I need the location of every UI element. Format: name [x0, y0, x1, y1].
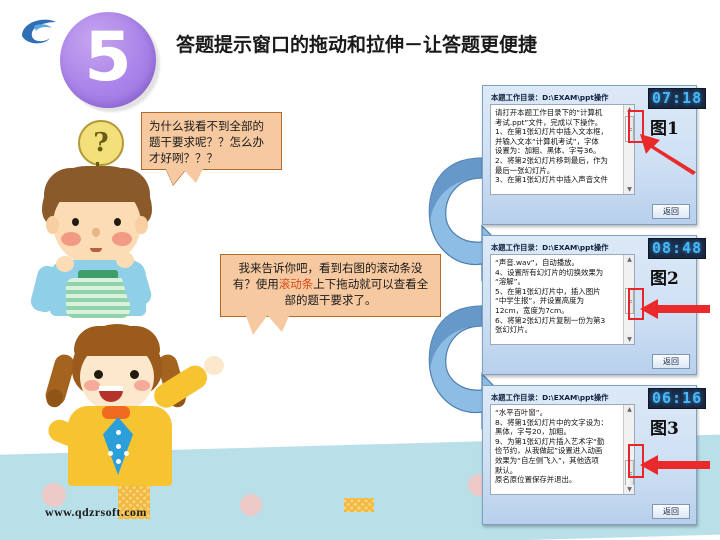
answer-bubble: 我来告诉你吧，看到右图的滚动条没有？使用滚动条上下拖动就可以查看全部的题干要求了…	[220, 254, 441, 317]
boy-cheek	[112, 232, 132, 246]
question-line: “溶解”。	[495, 277, 622, 287]
question-line: 2、将第2张幻灯片移到最后，作为	[495, 156, 622, 166]
girl-cheek	[134, 380, 150, 391]
explaining-girl-illustration	[44, 318, 230, 486]
girl-bangs	[74, 326, 160, 356]
question-line: “水平百叶窗”。	[495, 408, 622, 418]
girl-cheek	[84, 380, 100, 391]
scroll-down-arrow-icon[interactable]: ▼	[625, 185, 634, 194]
question-line: 张幻灯片。	[495, 325, 622, 335]
work-directory-label-1: 本题工作目录：D:\EXAM\ppt操作	[491, 93, 608, 103]
step-number-badge: 5	[60, 12, 156, 108]
figure-label-1: 图1	[650, 114, 679, 139]
figure-label-2: 图2	[650, 264, 679, 289]
question-text-area-1[interactable]: 请打开本题工作目录下的“计算机 考试.ppt”文件，完成以下操作。 1、在第1张…	[490, 104, 635, 195]
tie-dot	[116, 430, 121, 435]
question-mark-glyph: ?	[93, 128, 108, 158]
answer-bubble-tail	[246, 316, 267, 335]
girl-teeth	[99, 386, 123, 391]
question-line: 5、在第1张幻灯片中，插入图片	[495, 287, 622, 297]
girl-hand-raised	[204, 356, 224, 375]
decor-waffle	[344, 498, 374, 512]
tie-dot	[116, 459, 121, 464]
girl-eye	[94, 370, 103, 379]
work-directory-label-3: 本题工作目录：D:\EXAM\ppt操作	[491, 393, 608, 403]
tie-dot	[116, 444, 121, 449]
question-line: 黑体，字号20，加粗。	[495, 427, 622, 437]
tie-dot	[124, 451, 129, 456]
boy-hand-left	[56, 256, 74, 272]
decor-dot	[42, 483, 66, 507]
scroll-down-arrow-icon[interactable]: ▼	[625, 485, 634, 494]
question-bubble-tail	[183, 169, 203, 183]
girl-eye	[130, 370, 139, 379]
boy-nose	[92, 228, 100, 237]
question-mark-bubble-icon: ?	[78, 120, 124, 166]
boy-ear	[135, 216, 148, 234]
question-line: 效果为“自左侧飞入”，其他选项	[495, 456, 622, 466]
slide-canvas: www.qdzrsoft.com 正 ZH 5 答题提示窗口的拖动和拉伸－让答题…	[0, 0, 720, 540]
question-text-area-3[interactable]: “水平百叶窗”。 8、将第1张幻灯片中的文字设为： 黑体，字号20，加粗。 9、…	[490, 404, 635, 495]
pointer-arrow	[638, 296, 712, 322]
scroll-up-arrow-icon[interactable]: ▲	[625, 405, 634, 414]
question-line: 1、在第1张幻灯片中插入文本框，	[495, 127, 622, 137]
question-line: 3、在第1张幻灯片中插入声音文件	[495, 175, 622, 185]
boy-eye	[72, 218, 79, 226]
question-line: 8、将第1张幻灯片中的文字设为：	[495, 418, 622, 428]
boy-hair-front	[44, 168, 150, 202]
question-line: 请打开本题工作目录下的“计算机	[495, 108, 622, 118]
decor-dot	[240, 494, 262, 516]
step-number: 5	[84, 24, 131, 92]
tie-dot	[108, 451, 113, 456]
boy-cheek	[61, 232, 81, 246]
girl-bow	[102, 406, 130, 419]
question-line: 并输入文本“计算机考试”，字体	[495, 137, 622, 147]
boy-ear	[46, 216, 59, 234]
answer-bubble-tail	[268, 316, 289, 332]
question-line: 4、设置所有幻灯片的切换效果为	[495, 268, 622, 278]
countdown-timer-3: 06:16	[648, 388, 706, 409]
page-title: 答题提示窗口的拖动和拉伸－让答题更便捷	[176, 30, 596, 57]
question-line: 默认。	[495, 466, 622, 476]
question-line: 最后一张幻灯片。	[495, 166, 622, 176]
question-line: “中学生报”，并设置高度为	[495, 296, 622, 306]
question-text-area-2[interactable]: “声音.wav”，自动播放。 4、设置所有幻灯片的切换效果为 “溶解”。 5、在…	[490, 254, 635, 345]
figure-label-3: 图3	[650, 414, 679, 439]
question-line: “声音.wav”，自动播放。	[495, 258, 622, 268]
question-line: 9、为第1张幻灯片插入艺术字“勤	[495, 437, 622, 447]
countdown-timer-1: 07:18	[648, 88, 706, 109]
answer-bubble-highlight: 滚动条	[279, 277, 314, 291]
logo-swoosh-icon	[18, 14, 62, 48]
question-bubble-text: 为什么我看不到全部的题干要求呢？？怎么办才好咧？？？	[149, 119, 264, 165]
question-bubble: 为什么我看不到全部的题干要求呢？？怎么办才好咧？？？	[141, 112, 282, 170]
boy-shirt	[66, 278, 130, 318]
question-line: 设置为：加粗、黑体、字号36。	[495, 146, 622, 156]
boy-hand-right	[116, 252, 134, 268]
scroll-down-arrow-icon[interactable]: ▼	[625, 335, 634, 344]
question-line: 12cm，宽度为7cm。	[495, 306, 622, 316]
question-line: 考试.ppt”文件，完成以下操作。	[495, 118, 622, 128]
question-line: 原名原位置保存并退出。	[495, 475, 622, 485]
return-button-2[interactable]: 返回	[652, 354, 690, 369]
question-line: 俭节约，从我做起”设置进入动画	[495, 446, 622, 456]
return-button-3[interactable]: 返回	[652, 504, 690, 519]
return-button-1[interactable]: 返回	[652, 204, 690, 219]
boy-eye	[114, 218, 121, 226]
scroll-up-arrow-icon[interactable]: ▲	[625, 255, 634, 264]
pointer-arrow	[638, 452, 712, 478]
question-line: 6、将第2张幻灯片复制一份为第3	[495, 316, 622, 326]
site-url: www.qdzrsoft.com	[45, 505, 147, 520]
work-directory-label-2: 本题工作目录：D:\EXAM\ppt操作	[491, 243, 608, 253]
countdown-timer-2: 08:48	[648, 238, 706, 259]
